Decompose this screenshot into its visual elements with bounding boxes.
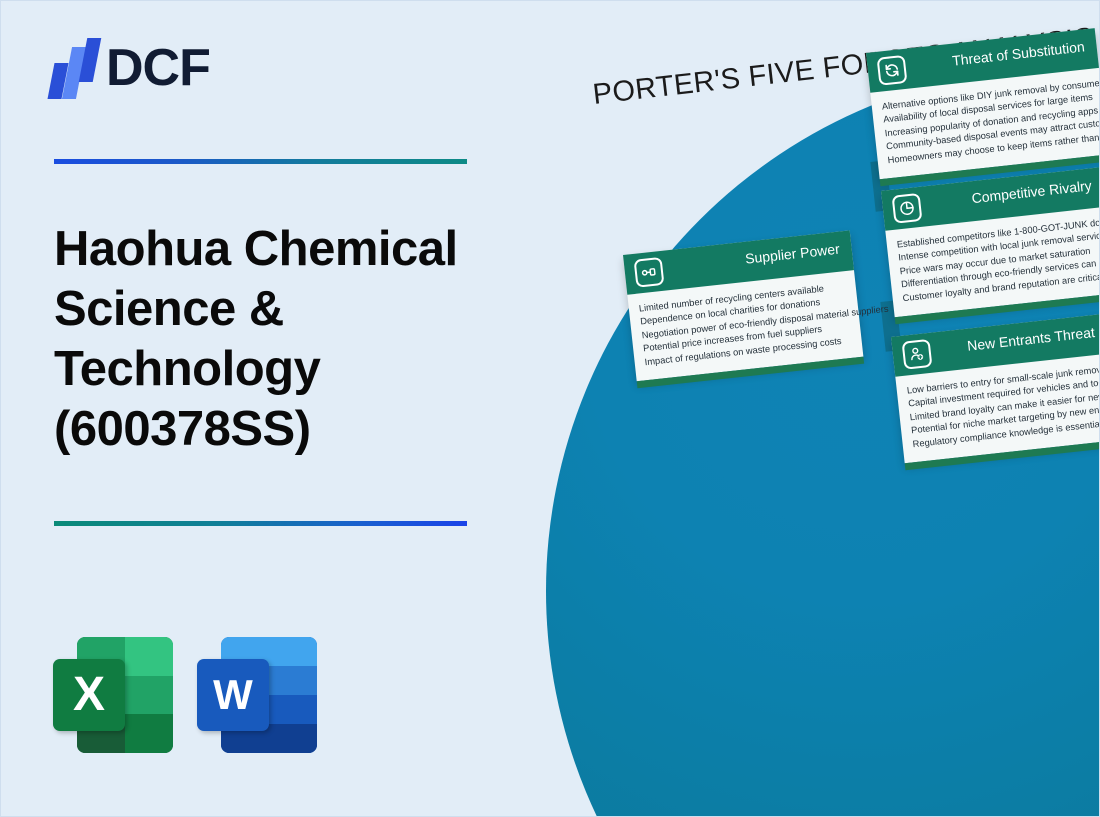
link-dumbbell-icon — [634, 257, 665, 288]
card-title: Competitive Rivalry — [971, 177, 1093, 206]
force-card-new-entrants-threat[interactable]: New Entrants Threat Low barriers to entr… — [891, 314, 1100, 464]
divider-top — [54, 159, 467, 164]
pie-chart-icon — [892, 193, 923, 224]
download-icons: X W — [53, 634, 319, 756]
word-tile: W — [197, 659, 269, 731]
porters-five-forces-infographic: PORTER'S FIVE FORCES ANALYSIS Threat of … — [521, 1, 1100, 817]
force-card-competitive-rivalry[interactable]: Competitive Rivalry Established competit… — [881, 167, 1100, 317]
divider-bottom — [54, 521, 467, 526]
word-file-icon[interactable]: W — [197, 634, 319, 756]
refresh-cycle-icon — [877, 55, 908, 86]
excel-tile: X — [53, 659, 125, 731]
slide-canvas: PORTER'S FIVE FORCES ANALYSIS Threat of … — [0, 0, 1100, 817]
dcf-logo-text: DCF — [106, 37, 210, 99]
dcf-logo-mark-icon — [48, 37, 104, 99]
force-card-supplier-power[interactable]: Supplier Power Limited number of recycli… — [623, 230, 863, 381]
card-title: Supplier Power — [744, 241, 840, 267]
card-title: Threat of Substitution — [951, 38, 1085, 68]
excel-file-icon[interactable]: X — [53, 634, 175, 756]
excel-letter: X — [53, 659, 125, 731]
add-person-icon — [902, 339, 933, 370]
card-title: New Entrants Threat — [966, 324, 1095, 354]
logo-bar-right — [79, 38, 102, 82]
left-title-panel: DCF Haohua Chemical Science & Technology… — [1, 1, 541, 817]
page-title: Haohua Chemical Science & Technology (60… — [54, 219, 524, 459]
dcf-logo[interactable]: DCF — [48, 37, 248, 99]
word-letter: W — [197, 659, 269, 731]
force-card-threat-of-substitution[interactable]: Threat of Substitution Alternative optio… — [866, 28, 1100, 179]
